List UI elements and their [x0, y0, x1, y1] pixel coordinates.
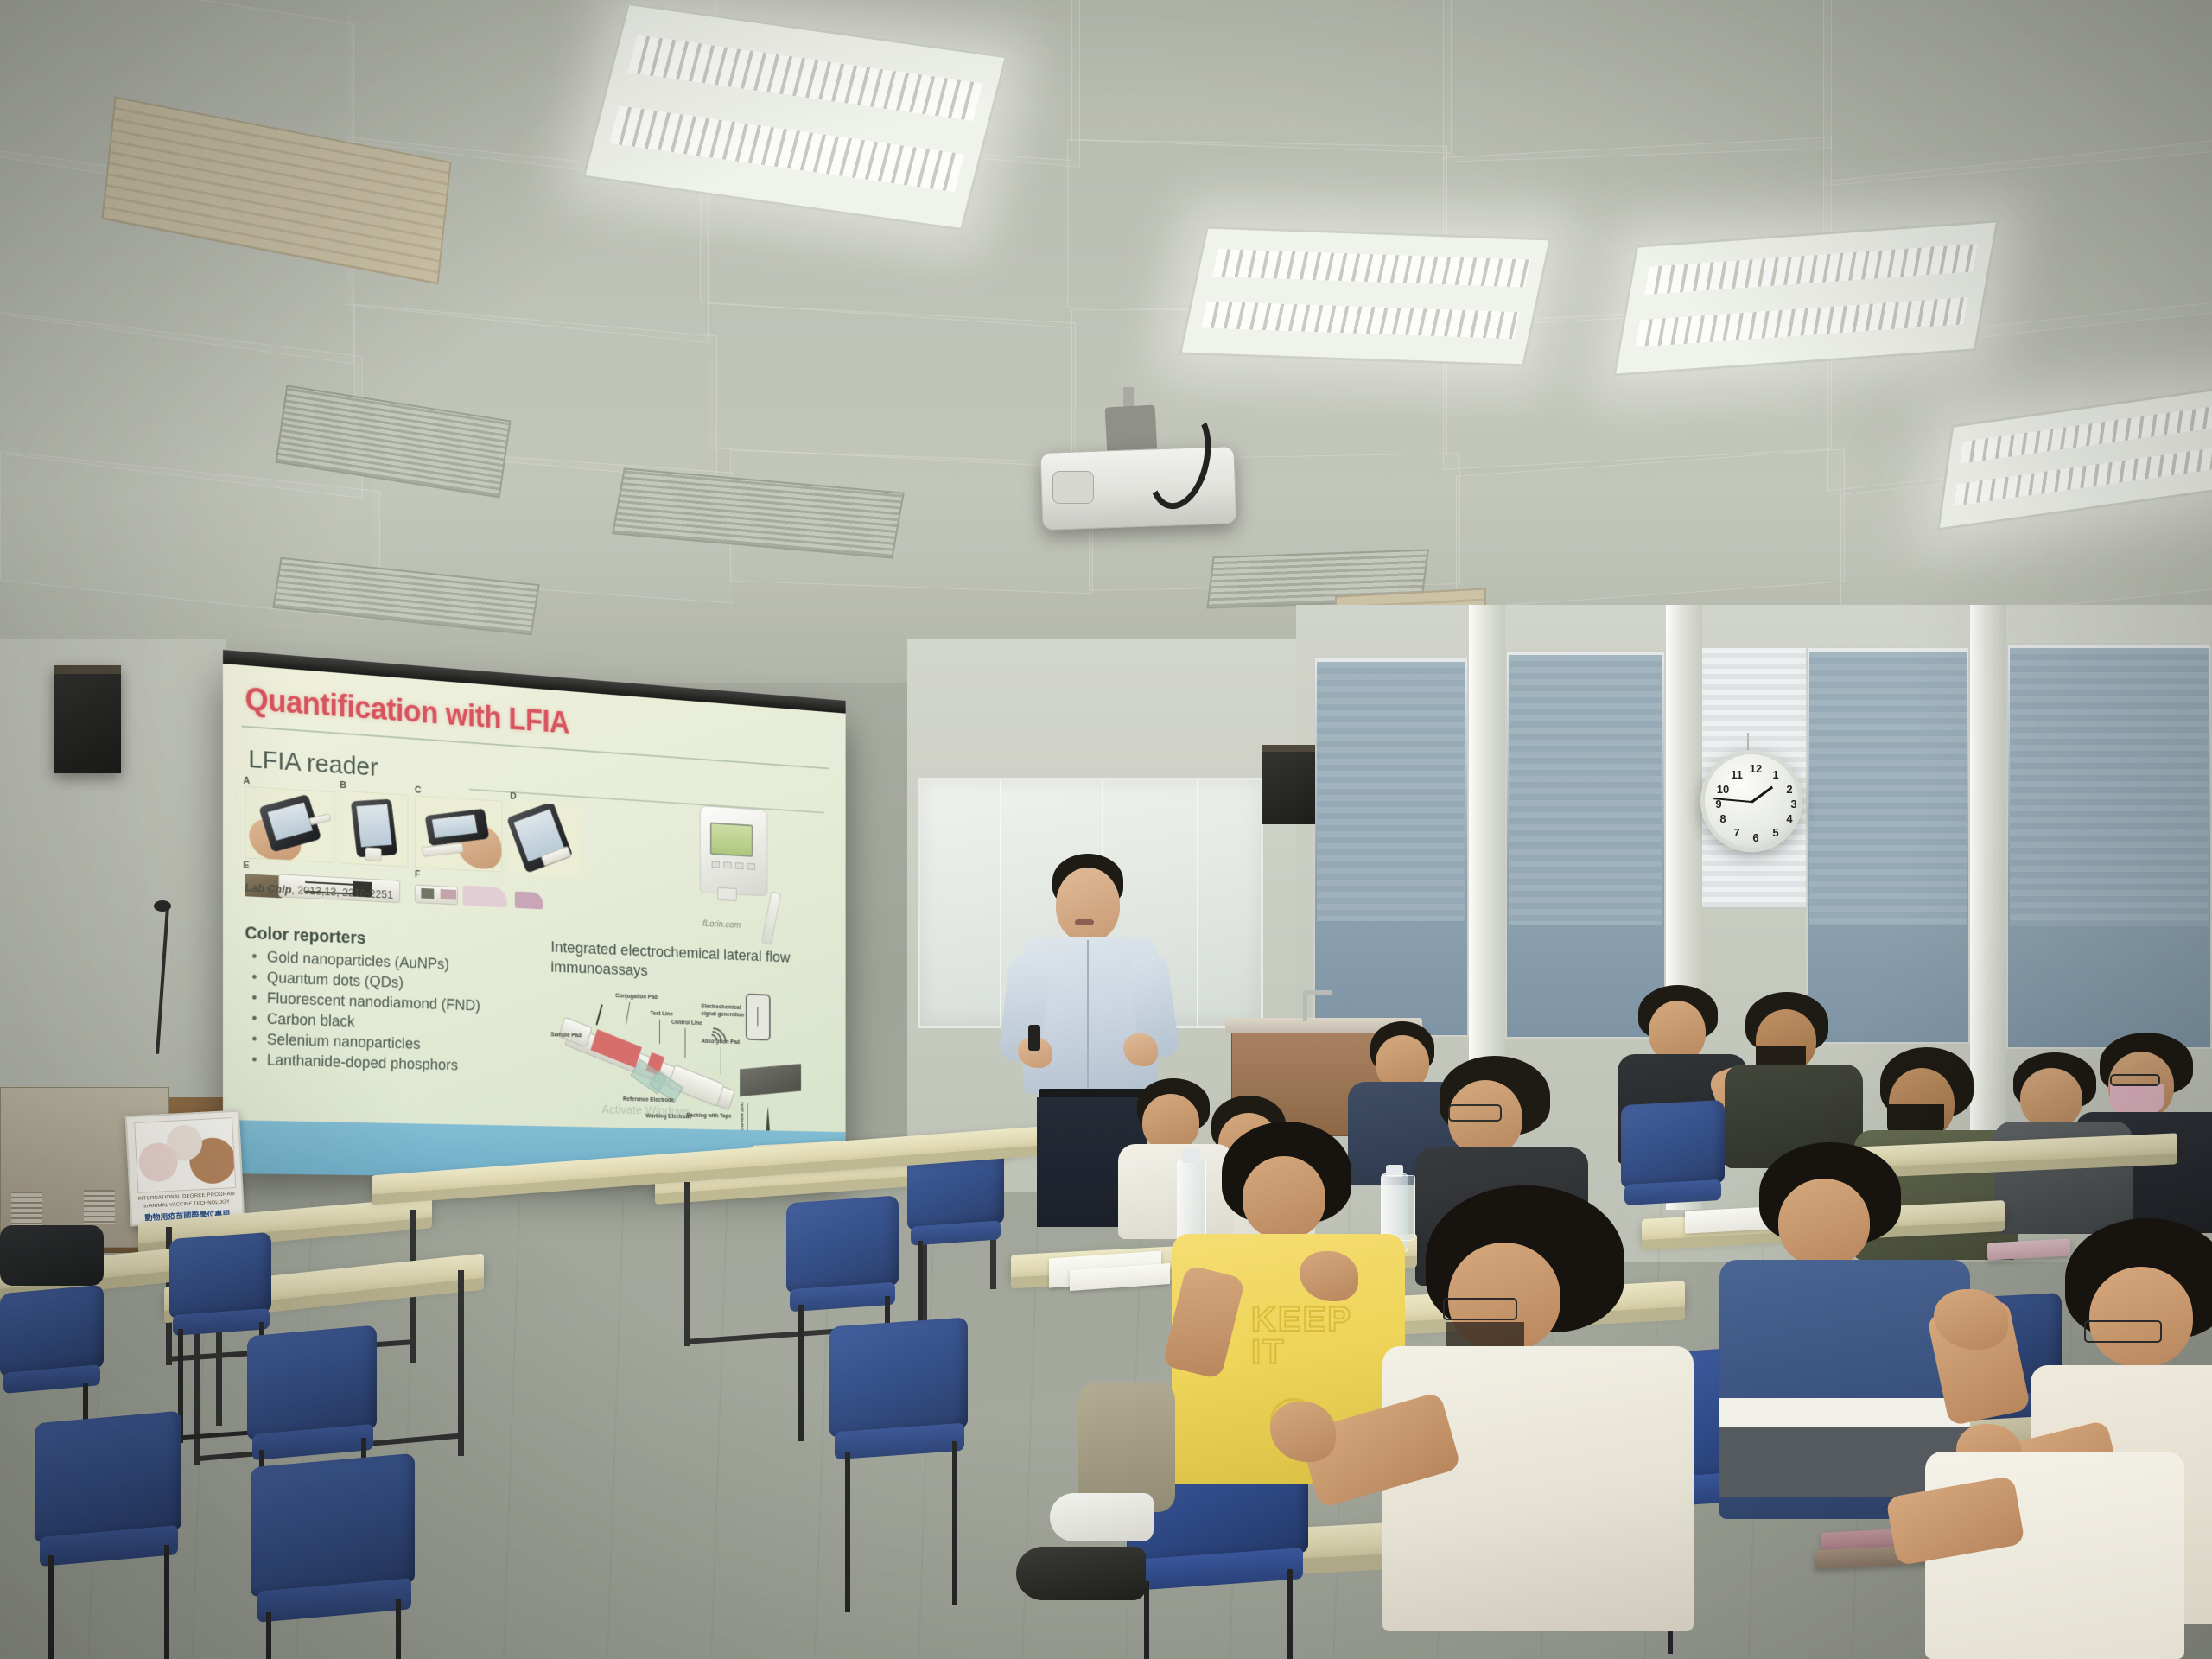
- projection-screen: Quantification with LFIA LFIA reader A B…: [223, 664, 846, 1181]
- face-mask: [2110, 1084, 2164, 1116]
- faucet-arm: [1303, 990, 1332, 995]
- panel-letter-f: F: [415, 869, 420, 880]
- window-blind: [2010, 648, 2209, 926]
- color-reporters-list: Gold nanoparticles (AuNPs) Quantum dots …: [248, 946, 480, 1076]
- diagram-title: Integrated electrochemical lateral flow …: [550, 938, 805, 987]
- clock-hook: [1747, 733, 1749, 752]
- plot-y-label: Current (uA): [741, 1102, 745, 1130]
- reader-photo-f: [415, 880, 557, 915]
- reader-photo-c: [415, 795, 502, 872]
- microphone: [154, 900, 171, 912]
- program-poster: INTERNATIONAL DEGREE PROGRAM in ANIMAL V…: [125, 1110, 245, 1227]
- panel-letter-c: C: [415, 785, 421, 796]
- presenter-head: [1056, 868, 1120, 942]
- color-reporters-heading: Color reporters: [245, 924, 365, 949]
- presentation-clicker: [1028, 1025, 1040, 1051]
- wall-clock: 12 1 2 3 4 5 6 7 8 9 10 11: [1700, 750, 1802, 852]
- clock-hour-hand: [1751, 786, 1773, 804]
- shoe: [1016, 1547, 1146, 1600]
- poster-animal-illustration: [134, 1117, 236, 1193]
- cream-polo-torso: [1382, 1346, 1694, 1631]
- classroom-scene: 12 1 2 3 4 5 6 7 8 9 10 11 Quantificatio…: [0, 0, 2212, 1659]
- presentation-slide: Quantification with LFIA LFIA reader A B…: [223, 664, 846, 1181]
- diagram-label: Conjugation Pad: [615, 993, 658, 1000]
- diagram-label: Backing with Tape: [686, 1113, 731, 1120]
- reader-photo-a: [245, 786, 334, 863]
- panel-letter-a: A: [243, 776, 250, 786]
- ceiling-light: [1179, 226, 1552, 367]
- wall-speaker-right: [1262, 745, 1315, 824]
- shirt-print-text: KEEP IT: [1251, 1303, 1381, 1369]
- window-blind: [1809, 652, 1967, 925]
- ceiling: [0, 0, 2212, 683]
- slide-subheading: LFIA reader: [248, 745, 378, 783]
- backpack: [0, 1225, 104, 1286]
- slide-title: Quantification with LFIA: [245, 681, 569, 741]
- test-strip-cassette: [761, 891, 781, 945]
- wall-speaker-left: [54, 665, 121, 773]
- reader-photo-d: [507, 801, 582, 878]
- eyeglasses: [1448, 1104, 1502, 1122]
- panel-letter-d: D: [510, 791, 516, 802]
- ceiling-light: [1613, 219, 1999, 376]
- reader-photo-b: [340, 791, 408, 868]
- diagram-label: Sample Pad: [550, 1032, 582, 1039]
- window-blind: [1317, 662, 1465, 921]
- reader-cartridge-slot: [717, 887, 736, 901]
- wall-column: [1970, 605, 2006, 1210]
- diagram-label: Test Line: [651, 1011, 673, 1018]
- reader-display: [710, 823, 753, 857]
- projector-lens: [1052, 471, 1094, 504]
- test-readout-strip: [740, 1064, 801, 1096]
- drinking-glass: [1381, 1175, 1415, 1241]
- faucet: [1303, 992, 1307, 1021]
- shoe: [1050, 1493, 1154, 1541]
- diagram-label: Control Line: [671, 1020, 702, 1027]
- eyeglasses: [2084, 1320, 2162, 1343]
- window-blind: [1509, 655, 1662, 925]
- panel-letter-e: E: [243, 860, 249, 870]
- eyeglasses: [1443, 1298, 1517, 1320]
- windows-watermark: Activate Windows: [601, 1103, 691, 1119]
- web-citation: fLorin.com: [702, 918, 741, 930]
- panel-letter-b: B: [340, 780, 346, 791]
